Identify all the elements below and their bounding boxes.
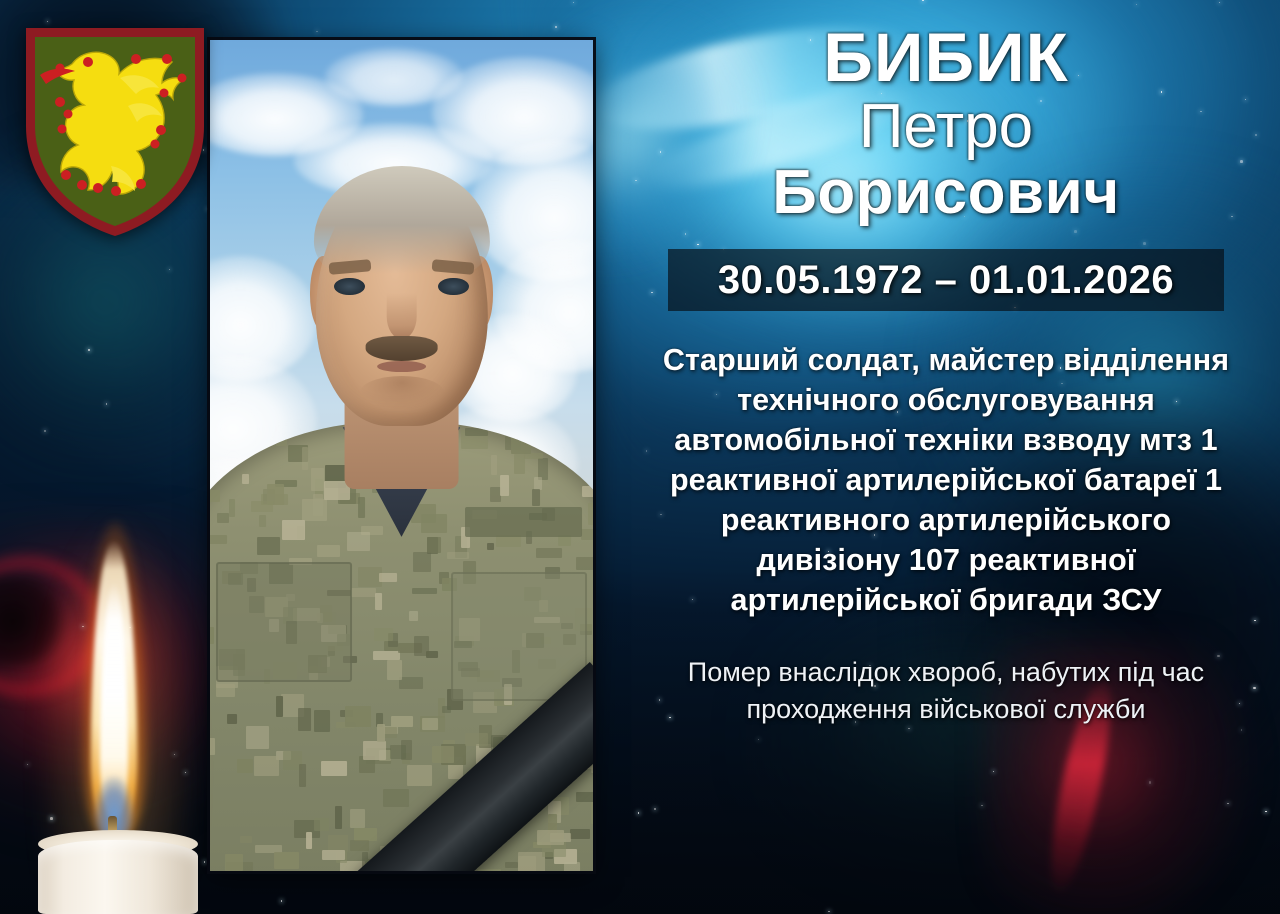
camo-pixel xyxy=(412,588,437,594)
star xyxy=(129,627,130,628)
camo-pixel xyxy=(299,764,306,787)
rank-and-unit-text: Старший солдат, майстер відділення техні… xyxy=(645,341,1247,621)
military-unit-shield-emblem xyxy=(16,18,214,244)
camo-pixel xyxy=(576,557,593,570)
star xyxy=(27,764,28,765)
camo-pixel xyxy=(447,552,469,559)
camo-pixel xyxy=(591,802,593,824)
camo-pixel xyxy=(210,490,220,502)
star xyxy=(185,772,186,773)
camo-pixel xyxy=(230,499,236,517)
camo-pixel xyxy=(351,588,376,597)
camo-pixel xyxy=(391,716,413,727)
camo-pixel xyxy=(399,677,423,689)
camo-pixel xyxy=(541,433,549,444)
patronymic: Борисович xyxy=(628,161,1264,225)
camo-pixel xyxy=(298,708,311,731)
star xyxy=(573,2,574,3)
uniform-velcro-patch xyxy=(465,507,583,537)
camo-pixel xyxy=(254,756,279,776)
life-dates-band: 30.05.1972 – 01.01.2026 xyxy=(668,249,1224,311)
camo-pixel xyxy=(591,644,593,661)
camo-pixel xyxy=(407,765,432,786)
star xyxy=(555,26,556,27)
name-block: БИБИК Петро Борисович xyxy=(628,0,1264,225)
camo-pixel xyxy=(314,818,329,831)
camo-pixel xyxy=(465,733,488,746)
camo-pixel xyxy=(274,852,299,869)
camo-pixel xyxy=(350,809,365,828)
camo-pixel xyxy=(478,869,501,871)
camo-pixel xyxy=(491,455,497,475)
camo-pixel xyxy=(514,454,525,474)
star xyxy=(112,793,113,794)
camo-pixel xyxy=(321,761,347,776)
camo-pixel xyxy=(211,447,219,464)
camo-pixel xyxy=(581,529,593,540)
camo-pixel xyxy=(387,660,402,680)
camo-pixel xyxy=(246,726,269,749)
camo-pixel xyxy=(536,548,562,558)
camo-pixel xyxy=(582,486,593,497)
camo-pixel xyxy=(432,746,454,763)
camo-pixel xyxy=(335,806,342,829)
camo-pixel xyxy=(442,706,451,713)
camo-pixel xyxy=(242,474,249,484)
camo-pixel xyxy=(259,515,266,527)
star xyxy=(105,665,106,666)
camo-pixel xyxy=(210,627,214,644)
camo-pixel xyxy=(225,854,243,871)
star xyxy=(82,626,83,627)
camo-pixel xyxy=(210,738,215,755)
camo-pixel xyxy=(409,611,418,621)
camo-pixel xyxy=(570,829,590,839)
eye-left xyxy=(334,278,365,295)
camo-pixel xyxy=(427,537,441,553)
memorial-card: БИБИК Петро Борисович 30.05.1972 – 01.01… xyxy=(0,0,1280,914)
memorial-text-column: БИБИК Петро Борисович 30.05.1972 – 01.01… xyxy=(612,0,1280,914)
camo-pixel xyxy=(555,431,572,437)
eye-right xyxy=(438,278,469,295)
camo-pixel xyxy=(532,489,540,506)
camo-pixel xyxy=(511,433,531,454)
moustache xyxy=(365,336,438,361)
star xyxy=(50,817,53,820)
camo-pixel xyxy=(500,475,509,496)
camo-pixel xyxy=(302,447,308,470)
camo-pixel xyxy=(576,792,593,802)
camo-pixel xyxy=(363,741,386,760)
mouth xyxy=(377,361,427,373)
camo-pixel xyxy=(524,453,543,459)
star xyxy=(316,31,317,32)
portrait-photo-frame xyxy=(210,40,593,871)
camo-pixel xyxy=(311,468,324,491)
star xyxy=(44,430,45,431)
camo-pixel xyxy=(358,497,365,518)
camo-pixel xyxy=(383,789,409,807)
camo-pixel xyxy=(413,552,431,572)
star xyxy=(88,349,89,350)
camo-pixel xyxy=(373,651,400,660)
star xyxy=(169,269,170,270)
camo-pixel xyxy=(276,437,287,446)
surname: БИБИК xyxy=(628,22,1264,93)
cause-of-death-text: Помер внаслідок хвороб, набутих під час … xyxy=(666,654,1226,726)
camo-pixel xyxy=(563,450,575,464)
camo-pixel xyxy=(345,706,371,727)
camo-pixel xyxy=(487,543,494,550)
camo-pixel xyxy=(317,545,340,557)
camo-pixel xyxy=(277,696,284,717)
camo-pixel xyxy=(251,501,273,512)
camo-pixel xyxy=(375,593,382,610)
uniform-pocket-left xyxy=(216,562,352,682)
camo-pixel xyxy=(537,830,564,845)
star xyxy=(103,856,104,857)
camo-pixel xyxy=(217,513,229,523)
camo-pixel xyxy=(377,724,385,742)
portrait-photo xyxy=(210,40,593,871)
star xyxy=(281,900,282,901)
star xyxy=(174,754,175,755)
camo-pixel xyxy=(466,428,489,436)
camo-pixel xyxy=(589,503,594,525)
camo-pixel xyxy=(314,710,330,732)
camo-pixel xyxy=(306,832,312,849)
camo-pixel xyxy=(257,537,280,555)
camo-pixel xyxy=(240,836,252,843)
camo-pixel xyxy=(390,745,406,759)
camo-pixel xyxy=(210,535,227,544)
camo-pixel xyxy=(518,856,536,871)
camo-pixel xyxy=(216,684,235,697)
camo-pixel xyxy=(322,850,345,860)
nose xyxy=(386,293,417,339)
star xyxy=(204,861,205,862)
camo-pixel xyxy=(350,840,369,851)
camo-pixel xyxy=(227,714,237,724)
camo-pixel xyxy=(558,535,571,546)
camo-pixel xyxy=(347,532,370,551)
star xyxy=(106,403,107,404)
camo-pixel xyxy=(313,494,323,516)
camo-pixel xyxy=(374,628,393,641)
camo-pixel xyxy=(282,520,305,540)
camo-pixel xyxy=(414,636,429,656)
camo-pixel xyxy=(422,718,438,730)
camo-pixel xyxy=(237,759,253,773)
hair xyxy=(313,166,489,274)
camo-pixel xyxy=(379,573,397,582)
camo-pixel xyxy=(582,463,589,469)
first-name: Петро xyxy=(628,95,1264,159)
camo-pixel xyxy=(505,862,518,868)
